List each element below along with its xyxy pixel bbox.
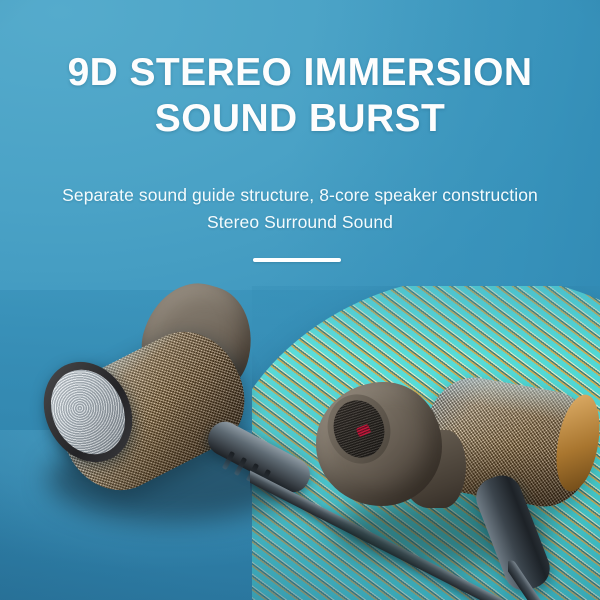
subheadline-line-1: Separate sound guide structure, 8-core s… bbox=[62, 185, 538, 205]
product-banner: 9D STEREO IMMERSION SOUND BURST Separate… bbox=[0, 0, 600, 600]
right-cable bbox=[508, 556, 600, 600]
divider-rule bbox=[253, 258, 341, 262]
subheadline-line-2: Stereo Surround Sound bbox=[207, 212, 393, 232]
subheadline: Separate sound guide structure, 8-core s… bbox=[0, 182, 600, 236]
headline-line-1: 9D STEREO IMMERSION bbox=[68, 51, 533, 94]
headline: 9D STEREO IMMERSION SOUND BURST bbox=[0, 50, 600, 142]
headline-line-2: SOUND BURST bbox=[0, 96, 600, 142]
